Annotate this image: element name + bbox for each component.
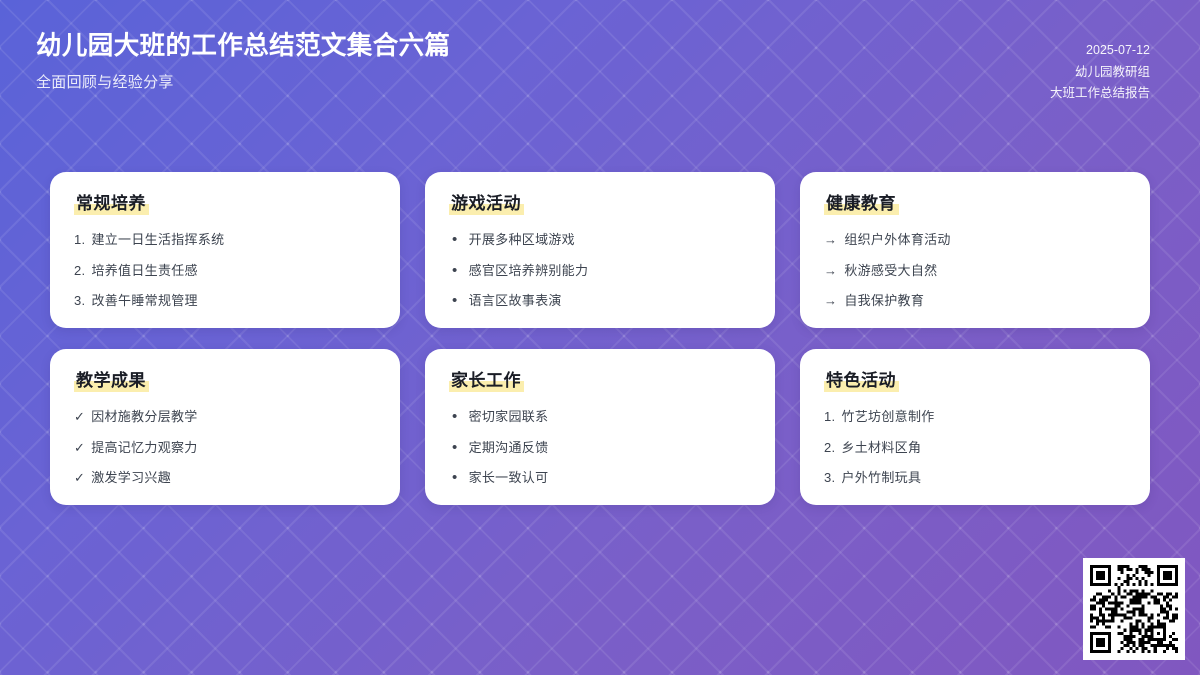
page-title: 幼儿园大班的工作总结范文集合六篇: [36, 30, 450, 64]
list-item: 2.乡土材料区角: [824, 439, 1126, 457]
list-item-text: 激发学习兴趣: [91, 469, 376, 487]
list-item-text: 秋游感受大自然: [844, 262, 1126, 280]
list-marker-bullet-icon: •: [452, 440, 458, 455]
list-item: →秋游感受大自然: [824, 262, 1126, 280]
list-marker-number-icon: 3.: [824, 469, 835, 487]
card-list: 1.竹艺坊创意制作2.乡土材料区角3.户外竹制玩具: [824, 408, 1126, 487]
card-heading: 特色活动: [824, 371, 899, 392]
card-list: •开展多种区域游戏•感官区培养辨别能力•语言区故事表演: [449, 231, 751, 310]
slide-page: 幼儿园大班的工作总结范文集合六篇 全面回顾与经验分享 2025-07-12 幼儿…: [0, 0, 1200, 675]
list-item: 3.改善午睡常规管理: [74, 292, 376, 310]
list-marker-arrow-icon: →: [824, 231, 837, 249]
list-item: →组织户外体育活动: [824, 231, 1126, 249]
header-meta-block: 2025-07-12 幼儿园教研组 大班工作总结报告: [1050, 30, 1150, 105]
card-list: ✓因材施教分层教学✓提高记忆力观察力✓激发学习兴趣: [74, 408, 376, 487]
list-item-text: 因材施教分层教学: [91, 408, 376, 426]
list-marker-arrow-icon: →: [824, 292, 837, 310]
card-heading: 游戏活动: [449, 194, 524, 215]
list-marker-number-icon: 1.: [74, 231, 85, 249]
card-heading: 健康教育: [824, 194, 899, 215]
card-heading: 常规培养: [74, 194, 149, 215]
list-item-text: 乡土材料区角: [841, 439, 1126, 457]
list-item: •家长一致认可: [449, 469, 751, 487]
list-item-text: 组织户外体育活动: [844, 231, 1126, 249]
card: 健康教育→组织户外体育活动→秋游感受大自然→自我保护教育: [800, 172, 1150, 328]
list-item-text: 开展多种区域游戏: [469, 231, 751, 249]
list-item-text: 培养值日生责任感: [91, 262, 376, 280]
list-item-text: 建立一日生活指挥系统: [91, 231, 376, 249]
list-marker-check-icon: ✓: [74, 408, 85, 426]
list-marker-check-icon: ✓: [74, 439, 85, 457]
list-item-text: 家长一致认可: [469, 469, 751, 487]
list-item: •感官区培养辨别能力: [449, 262, 751, 280]
card-heading: 家长工作: [449, 371, 524, 392]
card-list: 1.建立一日生活指挥系统2.培养值日生责任感3.改善午睡常规管理: [74, 231, 376, 310]
list-marker-number-icon: 2.: [74, 262, 85, 280]
card: 家长工作•密切家园联系•定期沟通反馈•家长一致认可: [425, 349, 775, 505]
list-item: 3.户外竹制玩具: [824, 469, 1126, 487]
meta-organization: 幼儿园教研组: [1050, 62, 1150, 84]
list-item: 2.培养值日生责任感: [74, 262, 376, 280]
meta-date: 2025-07-12: [1050, 40, 1150, 62]
list-marker-number-icon: 3.: [74, 292, 85, 310]
list-marker-bullet-icon: •: [452, 263, 458, 278]
slide-header: 幼儿园大班的工作总结范文集合六篇 全面回顾与经验分享 2025-07-12 幼儿…: [0, 0, 1200, 105]
list-item: •密切家园联系: [449, 408, 751, 426]
card-heading: 教学成果: [74, 371, 149, 392]
list-item: •语言区故事表演: [449, 292, 751, 310]
card: 游戏活动•开展多种区域游戏•感官区培养辨别能力•语言区故事表演: [425, 172, 775, 328]
list-item-text: 户外竹制玩具: [841, 469, 1126, 487]
list-item-text: 改善午睡常规管理: [91, 292, 376, 310]
qr-code[interactable]: [1083, 558, 1185, 660]
list-item-text: 密切家园联系: [469, 408, 751, 426]
list-marker-arrow-icon: →: [824, 262, 837, 280]
list-item: ✓因材施教分层教学: [74, 408, 376, 426]
list-item: →自我保护教育: [824, 292, 1126, 310]
card-list: •密切家园联系•定期沟通反馈•家长一致认可: [449, 408, 751, 487]
title-block: 幼儿园大班的工作总结范文集合六篇 全面回顾与经验分享: [36, 30, 450, 92]
qr-code-image: [1090, 565, 1178, 653]
list-item-text: 自我保护教育: [844, 292, 1126, 310]
meta-report-type: 大班工作总结报告: [1050, 83, 1150, 105]
list-item: •开展多种区域游戏: [449, 231, 751, 249]
list-marker-check-icon: ✓: [74, 469, 85, 487]
card: 特色活动1.竹艺坊创意制作2.乡土材料区角3.户外竹制玩具: [800, 349, 1150, 505]
list-marker-bullet-icon: •: [452, 293, 458, 308]
list-marker-bullet-icon: •: [452, 470, 458, 485]
list-item: ✓提高记忆力观察力: [74, 439, 376, 457]
page-subtitle: 全面回顾与经验分享: [36, 73, 450, 93]
list-item-text: 感官区培养辨别能力: [469, 262, 751, 280]
list-item: ✓激发学习兴趣: [74, 469, 376, 487]
card-grid: 常规培养1.建立一日生活指挥系统2.培养值日生责任感3.改善午睡常规管理游戏活动…: [50, 172, 1150, 505]
list-item-text: 竹艺坊创意制作: [841, 408, 1126, 426]
list-item-text: 提高记忆力观察力: [91, 439, 376, 457]
card: 常规培养1.建立一日生活指挥系统2.培养值日生责任感3.改善午睡常规管理: [50, 172, 400, 328]
list-marker-bullet-icon: •: [452, 232, 458, 247]
card-list: →组织户外体育活动→秋游感受大自然→自我保护教育: [824, 231, 1126, 310]
list-item: 1.建立一日生活指挥系统: [74, 231, 376, 249]
card: 教学成果✓因材施教分层教学✓提高记忆力观察力✓激发学习兴趣: [50, 349, 400, 505]
list-marker-number-icon: 1.: [824, 408, 835, 426]
list-item: •定期沟通反馈: [449, 439, 751, 457]
list-item-text: 定期沟通反馈: [469, 439, 751, 457]
list-marker-number-icon: 2.: [824, 439, 835, 457]
list-marker-bullet-icon: •: [452, 409, 458, 424]
list-item-text: 语言区故事表演: [469, 292, 751, 310]
list-item: 1.竹艺坊创意制作: [824, 408, 1126, 426]
